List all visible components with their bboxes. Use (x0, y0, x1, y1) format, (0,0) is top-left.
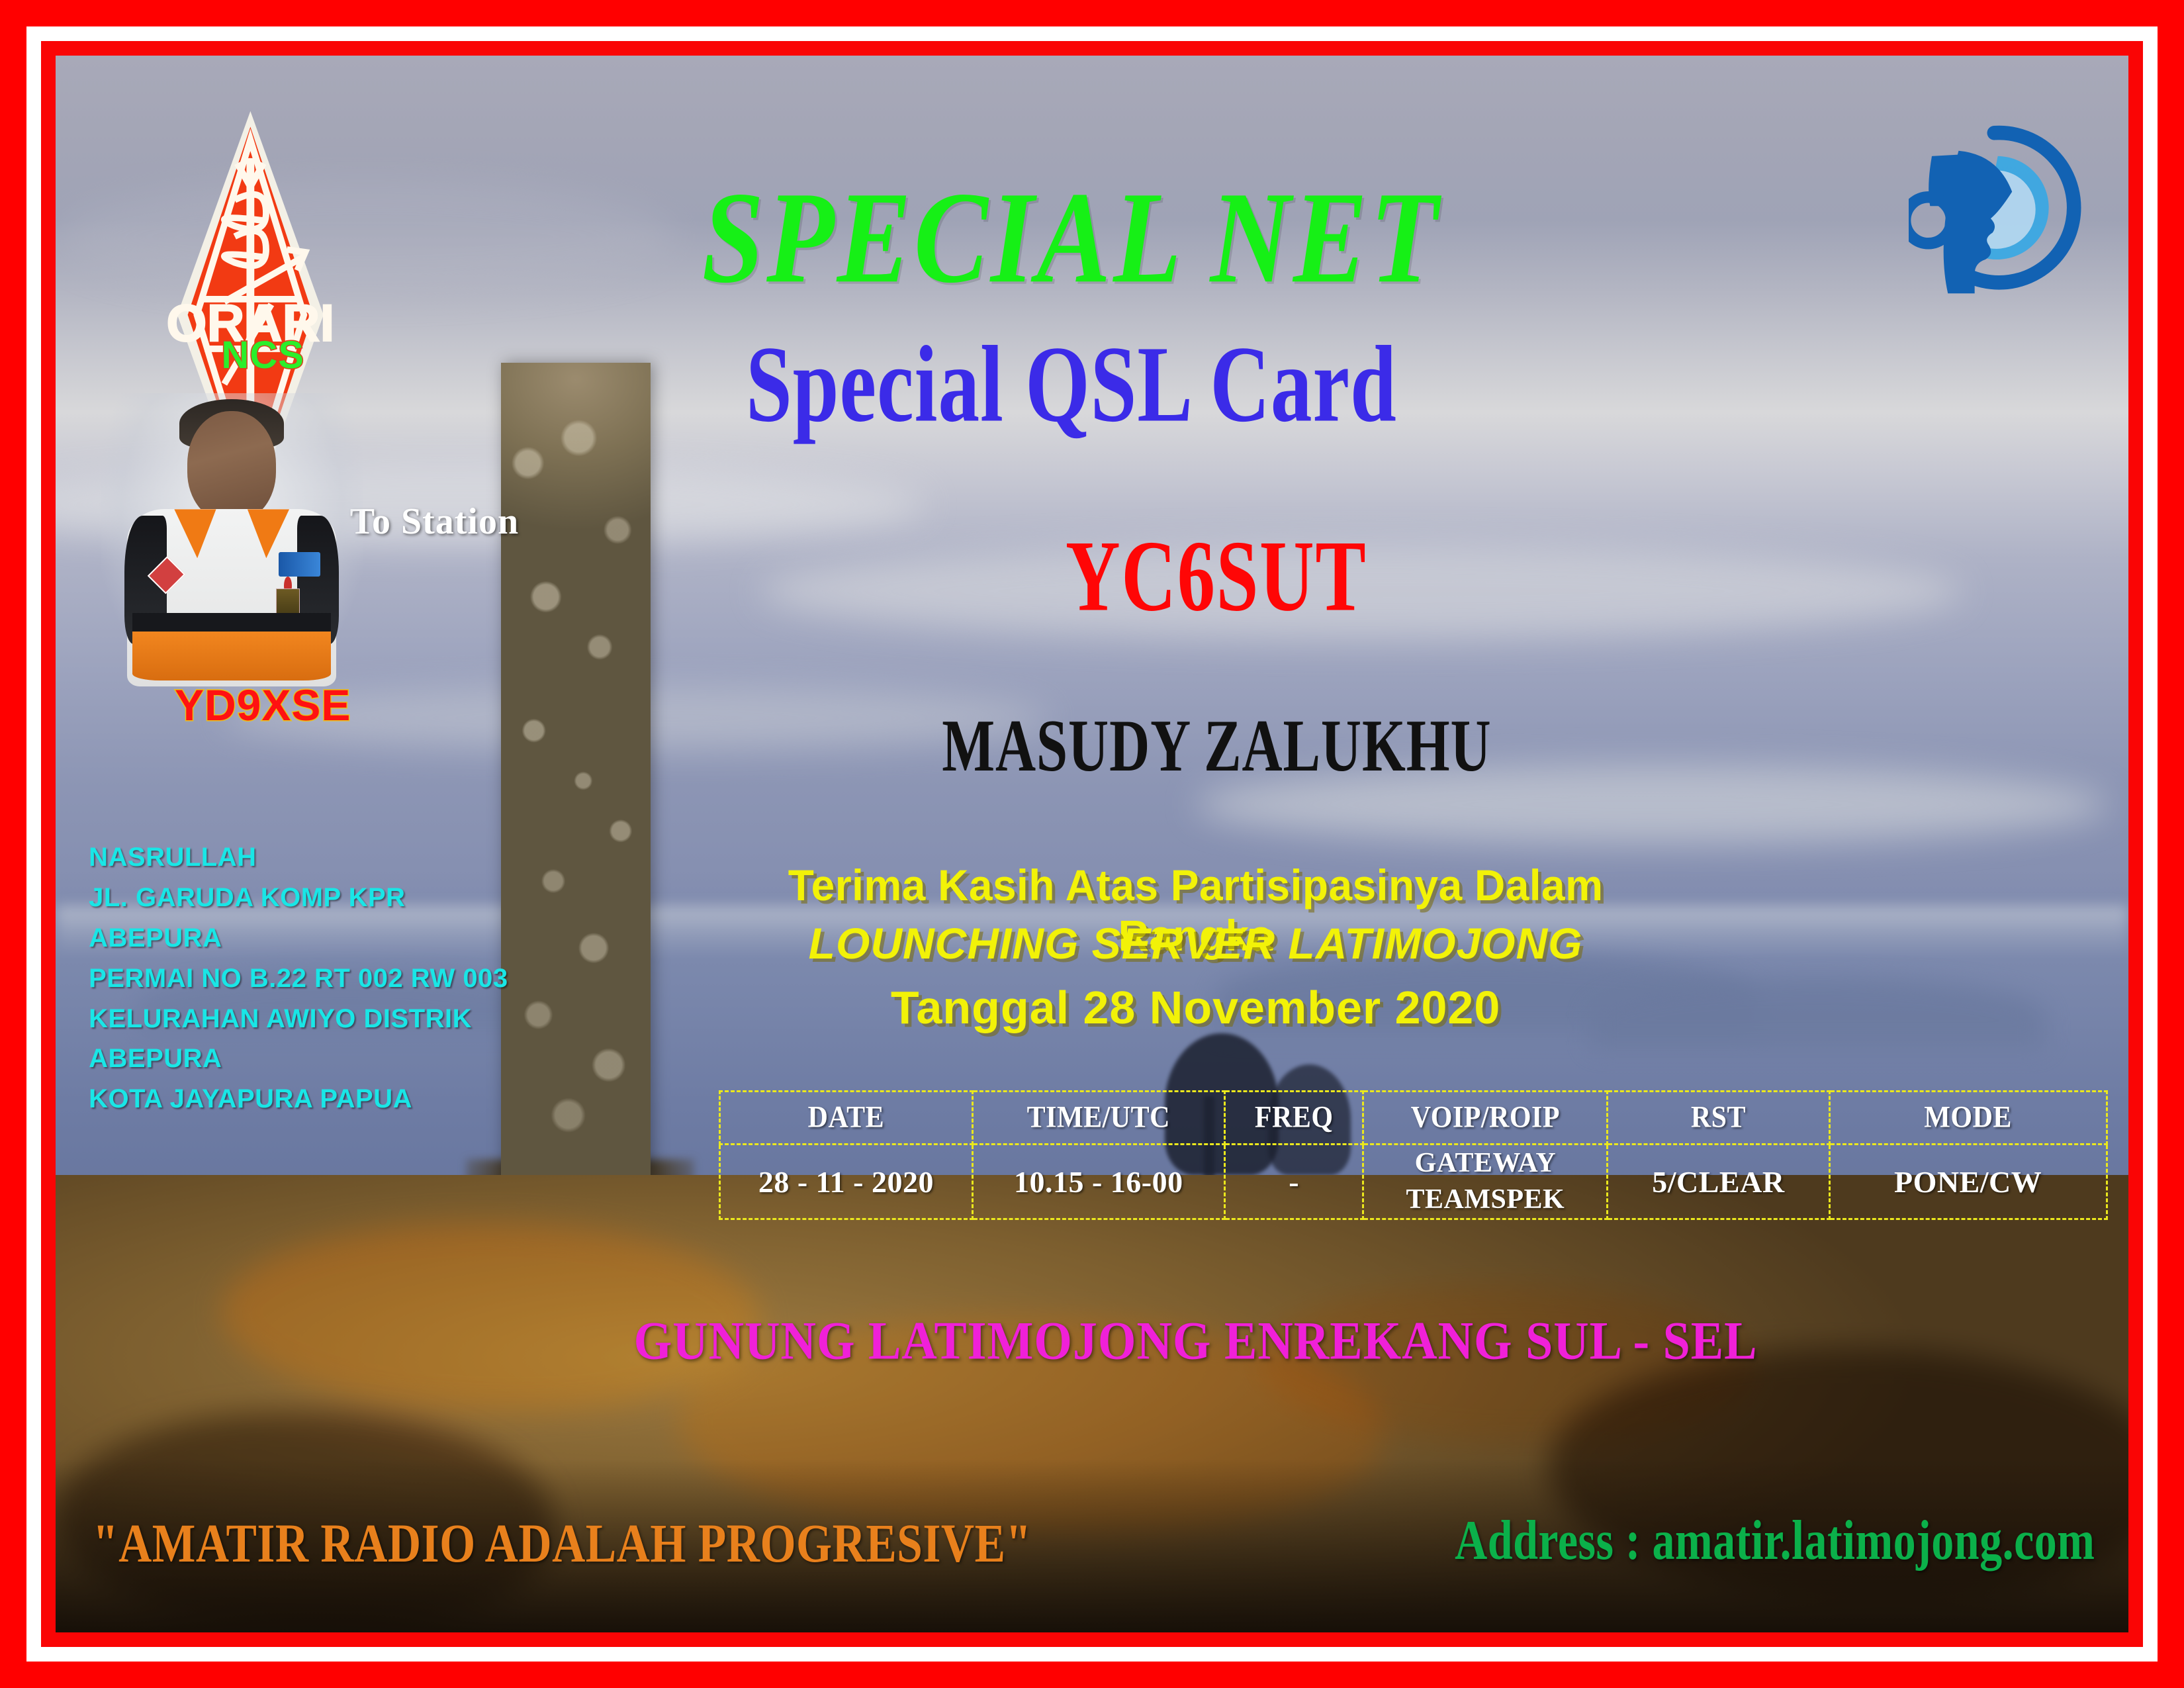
page-title: SPECIAL NET (449, 172, 1693, 303)
portrait-face (187, 411, 276, 521)
mountain-ridge-2 (1590, 978, 2046, 1049)
recipient-name: MASUDY ZALUKHU (778, 708, 1655, 782)
table-header-voip: VOIP/ROIP (1363, 1088, 1608, 1147)
white-frame-gap: ORARI SPECIAL NET Special QSL Card To St… (26, 26, 2158, 1662)
table-header-mode: MODE (1829, 1088, 2107, 1147)
portrait-chest-logo (279, 552, 320, 577)
cell-voip: GATEWAY TEAMSPEK (1363, 1144, 1608, 1219)
ncs-role-label: NCS (118, 333, 408, 377)
cell-mode: PONE/CW (1829, 1144, 2107, 1219)
ncs-operator-photo (101, 393, 363, 699)
table-header-freq: FREQ (1224, 1088, 1363, 1147)
web-address-line: Address : amatir.latimojong.com (1455, 1509, 2095, 1573)
address-line: PERMAI NO B.22 RT 002 RW 003 (89, 959, 669, 999)
address-line: KOTA JAYAPURA PAPUA (89, 1079, 669, 1119)
address-line: ABEPURA (89, 1039, 669, 1079)
card-photo-canvas: ORARI SPECIAL NET Special QSL Card To St… (56, 56, 2128, 1632)
sender-address-block: NASRULLAH JL. GARUDA KOMP KPR ABEPURA PE… (89, 837, 669, 1119)
location-line: GUNUNG LATIMOJONG ENREKANG SUL - SEL (615, 1311, 1776, 1373)
ncs-callsign: YD9XSE (97, 680, 429, 730)
table-row: 28 - 11 - 2020 10.15 - 16-00 - GATEWAY T… (720, 1144, 2107, 1219)
event-line: LOUNCHING SERVER LATIMOJONG (719, 918, 1672, 968)
table-header-rst: RST (1608, 1088, 1829, 1147)
cell-rst: 5/CLEAR (1608, 1144, 1829, 1219)
cell-time: 10.15 - 16-00 (972, 1144, 1224, 1219)
cell-voip-line2: TEAMSPEK (1364, 1182, 1606, 1218)
page-subtitle: Special QSL Card (461, 330, 1682, 439)
portrait-orange-band (132, 632, 331, 680)
table-header-date: DATE (720, 1088, 972, 1147)
qso-log-table: DATE TIME/UTC FREQ VOIP/ROIP RST MODE 28… (719, 1090, 2107, 1221)
table-header-time: TIME/UTC (972, 1088, 1224, 1147)
address-line: JL. GARUDA KOMP KPR (89, 878, 669, 918)
address-line: ABEPURA (89, 918, 669, 959)
inner-red-frame: ORARI SPECIAL NET Special QSL Card To St… (41, 41, 2143, 1647)
headphone-face-waves-logo (1909, 90, 2087, 320)
to-station-label: To Station (350, 500, 519, 543)
event-date-line: Tanggal 28 November 2020 (740, 981, 1652, 1034)
recipient-callsign: YC6SUT (888, 526, 1545, 627)
cell-freq: - (1224, 1144, 1363, 1219)
address-line: NASRULLAH (89, 837, 669, 878)
address-line: KELURAHAN AWIYO DISTRIK (89, 999, 669, 1039)
qsl-card-frame: ORARI SPECIAL NET Special QSL Card To St… (0, 0, 2184, 1688)
table-header-row: DATE TIME/UTC FREQ VOIP/ROIP RST MODE (720, 1091, 2107, 1144)
cell-voip-line1: GATEWAY (1364, 1145, 1606, 1182)
cell-date: 28 - 11 - 2020 (720, 1144, 972, 1219)
motto-text: "AMATIR RADIO ADALAH PROGRESIVE" (93, 1513, 1032, 1575)
